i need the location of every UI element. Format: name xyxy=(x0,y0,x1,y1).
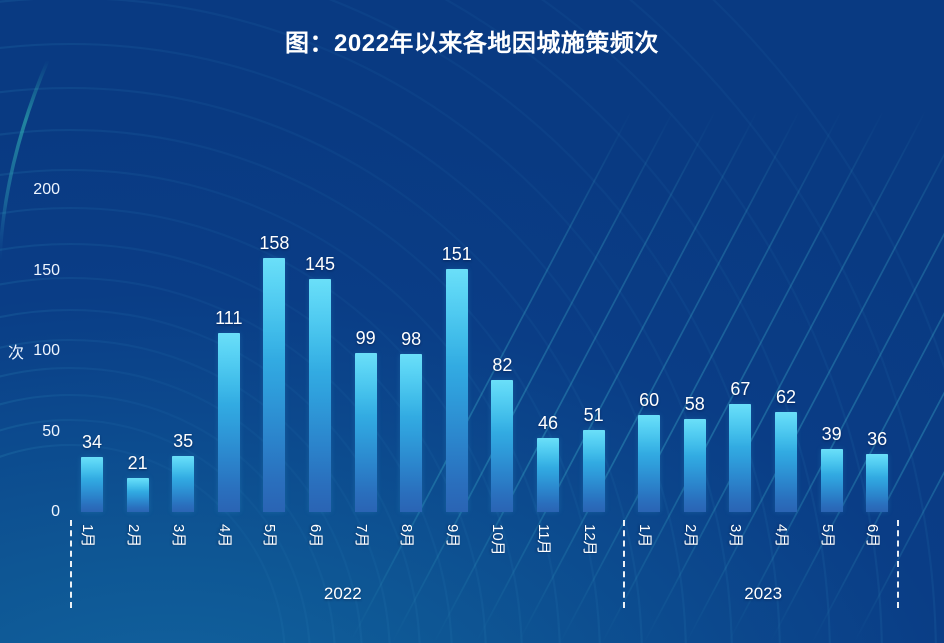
bar-value-label: 145 xyxy=(290,254,350,275)
bar[interactable] xyxy=(775,412,797,512)
x-axis-tick: 4月 xyxy=(215,524,236,547)
bar-group[interactable]: 99 xyxy=(355,353,377,512)
bar[interactable] xyxy=(729,404,751,512)
bar-group[interactable]: 98 xyxy=(400,354,422,512)
x-axis-tick: 10月 xyxy=(488,524,509,556)
bar[interactable] xyxy=(172,456,194,512)
bar[interactable] xyxy=(81,457,103,512)
bar-group[interactable]: 145 xyxy=(309,279,331,512)
bar[interactable] xyxy=(537,438,559,512)
x-axis-tick: 5月 xyxy=(818,524,839,547)
group-separator-2 xyxy=(897,520,899,608)
bar-group[interactable]: 46 xyxy=(537,438,559,512)
bar-value-label: 34 xyxy=(62,432,122,453)
bar-value-label: 35 xyxy=(153,431,213,452)
bar-group[interactable]: 60 xyxy=(638,415,660,512)
bar[interactable] xyxy=(309,279,331,512)
y-axis-tick-150: 150 xyxy=(14,262,60,280)
bar[interactable] xyxy=(127,478,149,512)
x-axis-tick: 2月 xyxy=(124,524,145,547)
x-axis-tick: 3月 xyxy=(169,524,190,547)
bar[interactable] xyxy=(446,269,468,512)
bar-value-label: 36 xyxy=(847,429,907,450)
bar-group[interactable]: 51 xyxy=(583,430,605,512)
x-axis-tick: 4月 xyxy=(772,524,793,547)
bar[interactable] xyxy=(400,354,422,512)
bar-group[interactable]: 158 xyxy=(263,258,285,512)
bar-value-label: 111 xyxy=(199,308,259,329)
bar-group[interactable]: 58 xyxy=(684,419,706,512)
bar-value-label: 82 xyxy=(472,355,532,376)
x-axis-tick: 1月 xyxy=(78,524,99,547)
bar-group[interactable]: 67 xyxy=(729,404,751,512)
chart-canvas: 图：2022年以来各地因城施策频次 050100150200次341月212月3… xyxy=(0,0,944,643)
bar-group[interactable]: 34 xyxy=(81,457,103,512)
bar-value-label: 158 xyxy=(244,233,304,254)
year-group-label-2022: 2022 xyxy=(283,584,403,604)
plot-area: 050100150200次341月212月353月1114月1585月1456月… xyxy=(0,0,944,643)
bar[interactable] xyxy=(263,258,285,512)
bar-value-label: 151 xyxy=(427,244,487,265)
x-axis-tick: 7月 xyxy=(352,524,373,547)
bar-value-label: 98 xyxy=(381,329,441,350)
x-axis-tick: 9月 xyxy=(443,524,464,547)
x-axis-tick: 8月 xyxy=(397,524,418,547)
bar-value-label: 62 xyxy=(756,387,816,408)
bar[interactable] xyxy=(821,449,843,512)
bar[interactable] xyxy=(355,353,377,512)
x-axis-tick: 11月 xyxy=(534,524,555,555)
x-axis-tick: 2月 xyxy=(681,524,702,547)
bar[interactable] xyxy=(218,333,240,512)
bar-group[interactable]: 111 xyxy=(218,333,240,512)
y-axis-tick-0: 0 xyxy=(14,503,60,521)
x-axis-tick: 6月 xyxy=(863,524,884,547)
y-axis-tick-50: 50 xyxy=(14,423,60,441)
bar-group[interactable]: 62 xyxy=(775,412,797,512)
x-axis-tick: 12月 xyxy=(580,524,601,556)
bar-group[interactable]: 35 xyxy=(172,456,194,512)
bar[interactable] xyxy=(583,430,605,512)
y-axis-tick-200: 200 xyxy=(14,181,60,199)
x-axis-tick: 5月 xyxy=(260,524,281,547)
bar[interactable] xyxy=(638,415,660,512)
bar-group[interactable]: 36 xyxy=(866,454,888,512)
year-group-label-2023: 2023 xyxy=(703,584,823,604)
bar[interactable] xyxy=(684,419,706,512)
x-axis-tick: 6月 xyxy=(306,524,327,547)
bar-group[interactable]: 151 xyxy=(446,269,468,512)
x-axis-tick: 1月 xyxy=(635,524,656,547)
y-axis-label: 次 xyxy=(8,339,24,363)
bar-group[interactable]: 21 xyxy=(127,478,149,512)
bar-group[interactable]: 82 xyxy=(491,380,513,512)
bar[interactable] xyxy=(866,454,888,512)
bar-value-label: 21 xyxy=(108,453,168,474)
bar[interactable] xyxy=(491,380,513,512)
bar-group[interactable]: 39 xyxy=(821,449,843,512)
group-separator-0 xyxy=(70,520,72,608)
x-axis-tick: 3月 xyxy=(726,524,747,547)
bar-value-label: 51 xyxy=(564,405,624,426)
group-separator-1 xyxy=(623,520,625,608)
